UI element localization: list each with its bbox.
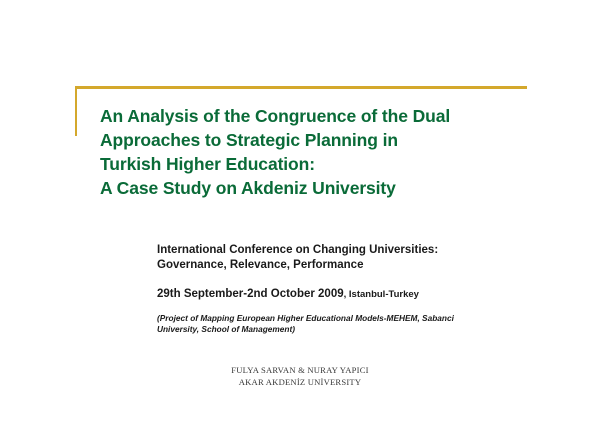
title-line-4: A Case Study on Akdeniz University	[100, 176, 540, 200]
conference-name-line-1: International Conference on Changing Uni…	[157, 243, 557, 258]
author-affiliation: AKAR AKDENİZ UNİVERSITY	[0, 377, 600, 389]
accent-rule-horizontal	[75, 86, 527, 89]
conference-date: 29th September-2nd October 2009	[157, 288, 344, 300]
conference-location: , Istanbul-Turkey	[344, 289, 419, 300]
author-credits: FULYA SARVAN & NURAY YAPICI AKAR AKDENİZ…	[0, 365, 600, 388]
author-names: FULYA SARVAN & NURAY YAPICI	[0, 365, 600, 377]
conference-date-row: 29th September-2nd October 2009, Istanbu…	[157, 284, 557, 302]
presentation-title: An Analysis of the Congruence of the Dua…	[100, 104, 540, 200]
accent-rule-vertical	[75, 86, 77, 136]
conference-details: International Conference on Changing Uni…	[157, 243, 557, 334]
conference-name-line-2: Governance, Relevance, Performance	[157, 258, 557, 273]
title-slide: An Analysis of the Congruence of the Dua…	[0, 0, 600, 424]
title-line-2: Approaches to Strategic Planning in	[100, 128, 540, 152]
project-note: (Project of Mapping European Higher Educ…	[157, 313, 492, 334]
title-line-1: An Analysis of the Congruence of the Dua…	[100, 104, 540, 128]
title-line-3: Turkish Higher Education:	[100, 152, 540, 176]
